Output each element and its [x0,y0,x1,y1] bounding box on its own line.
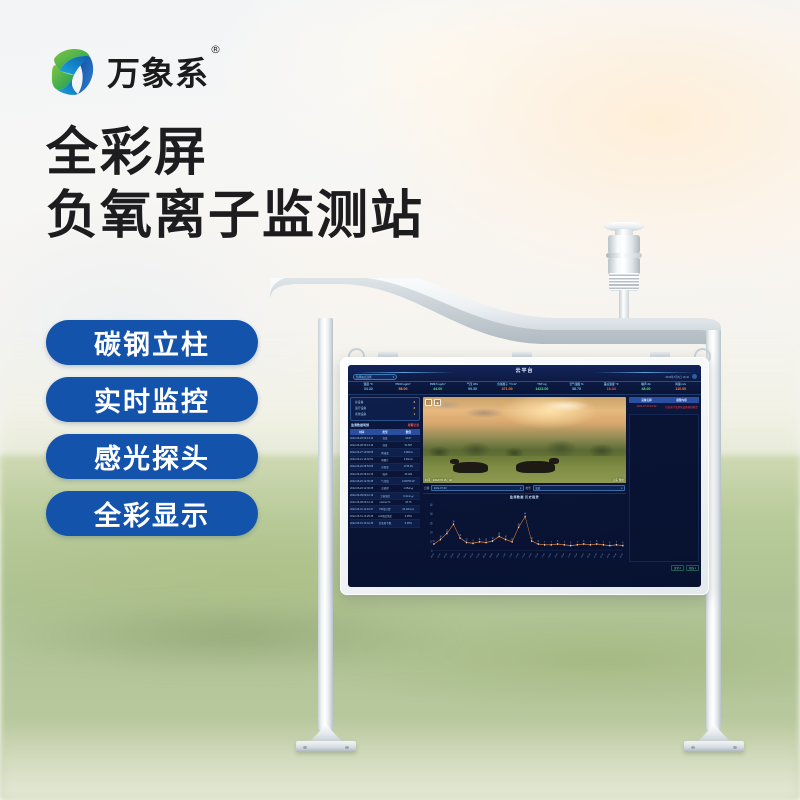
headline-line-1: 全彩屏 [46,122,424,185]
feature-badge: 实时监控 [46,377,258,422]
grass-shadow [0,590,800,710]
feature-badge: 感光探头 [46,434,258,479]
brand-logo: 万象系 ® [48,45,209,97]
headline-block: 全彩屏 负氧离子监测站 [46,122,424,249]
trademark-symbol: ® [210,43,222,56]
product-marketing-banner: 万象系 ® 全彩屏 负氧离子监测站 碳钢立柱 实时监控 感光探头 全彩显示 [0,0,800,800]
feature-badge: 全彩显示 [46,491,258,536]
bottom-fade [0,720,800,800]
brand-name: 万象系 ® [107,47,209,95]
globe-sphere-icon [48,45,98,97]
feature-badge: 碳钢立柱 [46,320,258,365]
brand-name-text: 万象系 [107,54,209,93]
headline-line-2: 负氧离子监测站 [46,185,424,248]
feature-badge-list: 碳钢立柱 实时监控 感光探头 全彩显示 [46,320,258,536]
